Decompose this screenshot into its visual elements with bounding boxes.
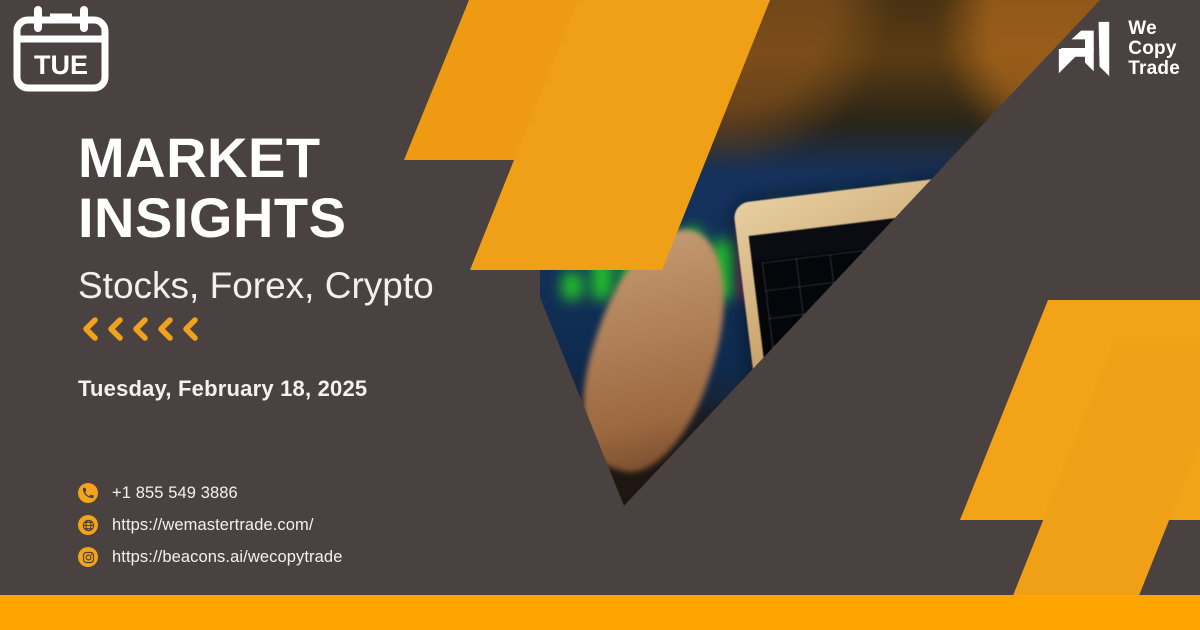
chevron-left-icon	[128, 316, 150, 342]
logo-line-1: We	[1128, 19, 1180, 39]
title-line-2: INSIGHTS	[78, 186, 346, 249]
chevron-left-icon	[178, 316, 200, 342]
chevron-left-icon	[78, 316, 100, 342]
logo-line-2: Copy	[1128, 39, 1180, 59]
publish-date: Tuesday, February 18, 2025	[78, 376, 538, 402]
instagram-icon	[78, 547, 98, 567]
calendar-icon: TUE	[12, 6, 110, 94]
banner-canvas: TUE We Copy Trade MARKET INSIGHTS Stocks…	[0, 0, 1200, 630]
globe-icon	[78, 515, 98, 535]
headline-block: MARKET INSIGHTS Stocks, Forex, Crypto Tu…	[78, 128, 538, 402]
contact-row-social[interactable]: https://beacons.ai/wecopytrade	[78, 547, 342, 567]
chevron-left-icon	[153, 316, 175, 342]
contact-row-phone[interactable]: +1 855 549 3886	[78, 483, 342, 503]
page-title: MARKET INSIGHTS	[78, 128, 538, 248]
contact-list: +1 855 549 3886 https://wemastertrade.co…	[78, 483, 342, 579]
contact-text-phone: +1 855 549 3886	[112, 484, 238, 502]
contact-text-website: https://wemastertrade.com/	[112, 516, 314, 534]
calendar-day-abbrev: TUE	[34, 50, 88, 80]
brand-logo[interactable]: We Copy Trade	[1054, 18, 1180, 80]
contact-row-website[interactable]: https://wemastertrade.com/	[78, 515, 342, 535]
chevron-left-icon	[103, 316, 125, 342]
chevron-divider	[78, 316, 538, 342]
title-line-1: MARKET	[78, 126, 321, 189]
logo-wordmark: We Copy Trade	[1128, 19, 1180, 79]
contact-text-social: https://beacons.ai/wecopytrade	[112, 548, 342, 566]
arrow-chevron-mark-icon	[1054, 18, 1116, 80]
calendar-glyph: TUE	[12, 6, 110, 94]
subtitle: Stocks, Forex, Crypto	[78, 264, 538, 308]
bottom-accent-bar	[0, 595, 1200, 630]
logo-line-3: Trade	[1128, 59, 1180, 79]
phone-icon	[78, 483, 98, 503]
